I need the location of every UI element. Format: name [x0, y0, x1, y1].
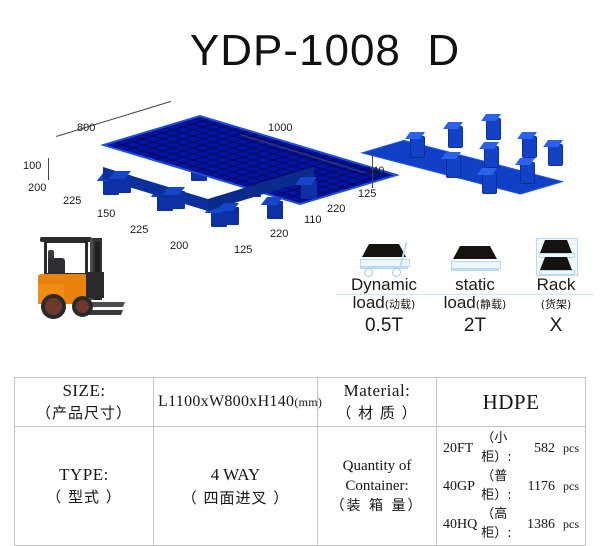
dimension-label-110: 110: [304, 214, 322, 226]
material-value: HDPE: [441, 390, 581, 415]
cell-size-label: SIZE: （产品尺寸）: [15, 378, 154, 427]
pallet-isometric-illustration: [95, 115, 330, 235]
load-label-line1: Rack: [518, 276, 594, 294]
container-code-cn: （普柜）:: [479, 467, 525, 505]
load-label-cn: (静载): [476, 298, 507, 311]
load-value: 2T: [432, 315, 518, 337]
load-capacity-group: Dynamicload(动载)0.5Tstaticload(静载)2TRack(…: [336, 236, 594, 336]
rack-icon: [518, 236, 594, 276]
dimension-label-125: 125: [358, 188, 376, 200]
specification-table: SIZE: （产品尺寸） L1100xW800xH140(mm) Materia…: [14, 377, 586, 546]
load-label-line2: (货架): [518, 294, 594, 314]
table-row-type: TYPE: （ 型式 ） 4 WAY （ 四面进叉 ） Quantity of …: [15, 427, 586, 546]
dimension-label-220: 220: [327, 203, 345, 215]
pallet-truck-icon: [336, 236, 432, 276]
material-label-en: Material:: [344, 381, 411, 400]
load-value: X: [518, 315, 594, 337]
size-label-cn: （产品尺寸）: [36, 404, 132, 422]
container-unit: pcs: [561, 505, 581, 543]
dimension-label-200: 200: [170, 240, 188, 252]
table-row-size: SIZE: （产品尺寸） L1100xW800xH140(mm) Materia…: [15, 378, 586, 427]
container-code: 40GP: [441, 467, 479, 505]
quantity-label-en: Quantity of: [343, 458, 412, 474]
load-column-2: Rack(货架)X: [518, 236, 594, 337]
container-code-cn: （小柜）:: [479, 429, 525, 467]
type-value-cn: （ 四面进叉 ）: [182, 489, 290, 507]
cell-type-label: TYPE: （ 型式 ）: [15, 427, 154, 546]
load-label-line2: load(静载): [432, 294, 518, 314]
static-pallet-icon: [432, 236, 518, 276]
load-value: 0.5T: [336, 315, 432, 337]
dimension-label-800: 800: [77, 122, 95, 134]
load-label-en2: load: [353, 293, 385, 312]
material-label-cn: （ 材 质 ）: [336, 404, 417, 422]
product-spec-sheet: YDP-1008 D: [0, 0, 600, 539]
type-label-cn: （ 型式 ）: [46, 488, 122, 506]
load-label-en2: load: [444, 293, 476, 312]
dimension-label-140: 140: [366, 165, 384, 177]
cell-type-value: 4 WAY （ 四面进叉 ）: [154, 427, 318, 546]
load-column-1: staticload(静载)2T: [432, 236, 518, 337]
quantity-label-en2: Container:: [345, 478, 408, 494]
container-code: 20FT: [441, 429, 479, 467]
quantity-label-cn: （装 箱 量）: [331, 498, 424, 514]
cell-size-value: L1100xW800xH140(mm): [154, 378, 318, 427]
container-quantity-row: 40HQ（高柜）:1386pcs: [441, 505, 581, 543]
container-quantity-row: 20FT（小柜）:582pcs: [441, 429, 581, 467]
container-qty: 1386: [525, 505, 561, 543]
page-title: YDP-1008 D: [0, 26, 600, 76]
container-qty: 582: [525, 429, 561, 467]
size-label-en: SIZE:: [62, 381, 105, 400]
type-label-en: TYPE:: [59, 465, 109, 484]
dimension-label-1000: 1000: [268, 122, 292, 134]
load-label-line1: static: [432, 276, 518, 294]
dimension-label-225: 225: [63, 195, 81, 207]
cell-quantity-value: 20FT（小柜）:582pcs40GP（普柜）:1176pcs40HQ（高柜）:…: [437, 427, 586, 546]
load-label-line2: load(动载): [336, 294, 432, 314]
dimension-label-200: 200: [28, 182, 46, 194]
dimension-label-100: 100: [23, 160, 41, 172]
container-quantity-row: 40GP（普柜）:1176pcs: [441, 467, 581, 505]
dimension-label-225: 225: [130, 224, 148, 236]
size-unit: (mm): [294, 395, 322, 409]
load-label-cn: (动载): [385, 298, 416, 311]
container-code: 40HQ: [441, 505, 479, 543]
cell-material-label: Material: （ 材 质 ）: [318, 378, 437, 427]
container-unit: pcs: [561, 467, 581, 505]
load-label-line1: Dynamic: [336, 276, 432, 294]
dimension-label-220: 220: [270, 228, 288, 240]
forklift-icon: [24, 232, 129, 327]
container-qty: 1176: [525, 467, 561, 505]
type-value-en: 4 WAY: [211, 465, 261, 484]
load-column-0: Dynamicload(动载)0.5T: [336, 236, 432, 337]
cell-material-value: HDPE: [437, 378, 586, 427]
size-value: L1100xW800xH140: [158, 393, 294, 410]
container-unit: pcs: [561, 429, 581, 467]
cell-quantity-label: Quantity of Container: （装 箱 量）: [318, 427, 437, 546]
dim-tick: [48, 158, 49, 180]
pallet-bottom-view-illustration: [398, 114, 583, 199]
container-quantity-list: 20FT（小柜）:582pcs40GP（普柜）:1176pcs40HQ（高柜）:…: [441, 429, 581, 543]
dimension-label-150: 150: [97, 208, 115, 220]
load-label-cn: (货架): [541, 298, 572, 311]
container-code-cn: （高柜）:: [479, 505, 525, 543]
dimension-label-125: 125: [234, 244, 252, 256]
